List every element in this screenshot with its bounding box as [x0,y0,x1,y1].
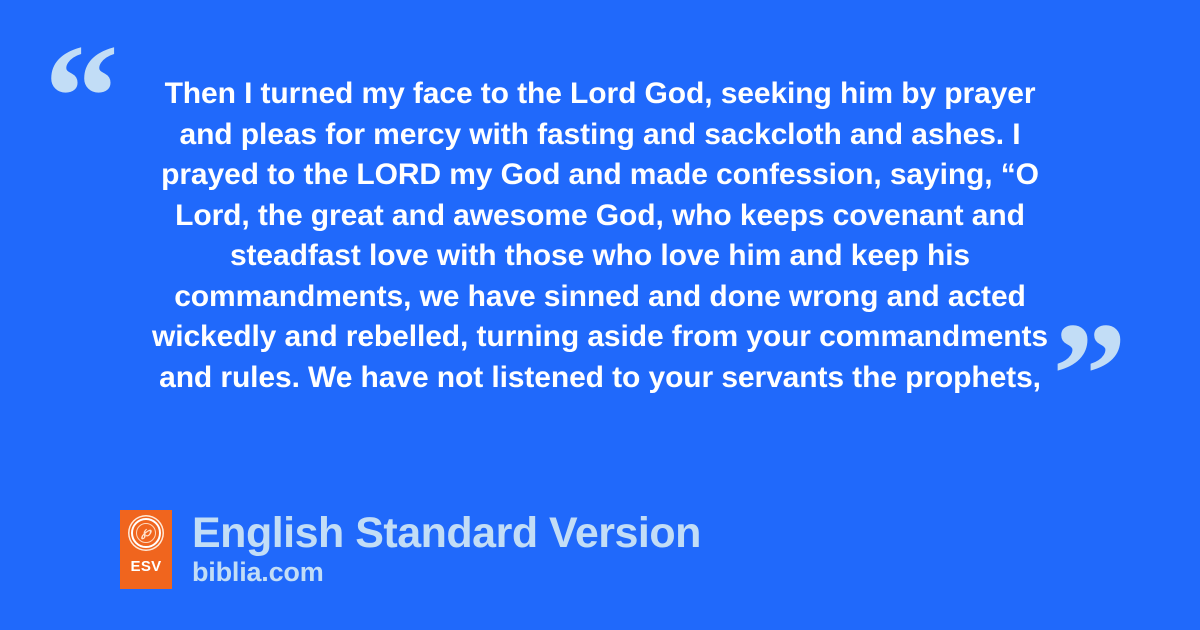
quote-line: prayed to the LORD my God and made confe… [118,155,1082,196]
closing-quote-icon: ” [1052,300,1129,450]
quote-line: and pleas for mercy with fasting and sac… [118,115,1082,156]
quote-text-block: Then I turned my face to the Lord God, s… [118,74,1082,398]
quote-line: Lord, the great and awesome God, who kee… [118,196,1082,237]
esv-monogram-glyph: ℘ [141,526,151,540]
esv-seal-emblem: ℘ [131,518,161,548]
esv-abbreviation-label: ESV [131,559,162,574]
quote-line: commandments, we have sinned and done wr… [118,277,1082,318]
brand-text-group: English Standard Version biblia.com [192,510,701,587]
quote-line: steadfast love with those who love him a… [118,236,1082,277]
esv-seal-icon: ℘ ESV [120,510,172,589]
opening-quote-icon: “ [44,22,121,172]
quote-line: Then I turned my face to the Lord God, s… [118,74,1082,115]
brand-footer[interactable]: ℘ ESV English Standard Version biblia.co… [120,510,701,589]
verse-share-card: “ Then I turned my face to the Lord God,… [0,0,1200,630]
bible-version-title: English Standard Version [192,510,701,556]
quote-line: wickedly and rebelled, turning aside fro… [118,317,1082,358]
site-url-label[interactable]: biblia.com [192,557,701,587]
quote-line: and rules. We have not listened to your … [118,358,1082,399]
